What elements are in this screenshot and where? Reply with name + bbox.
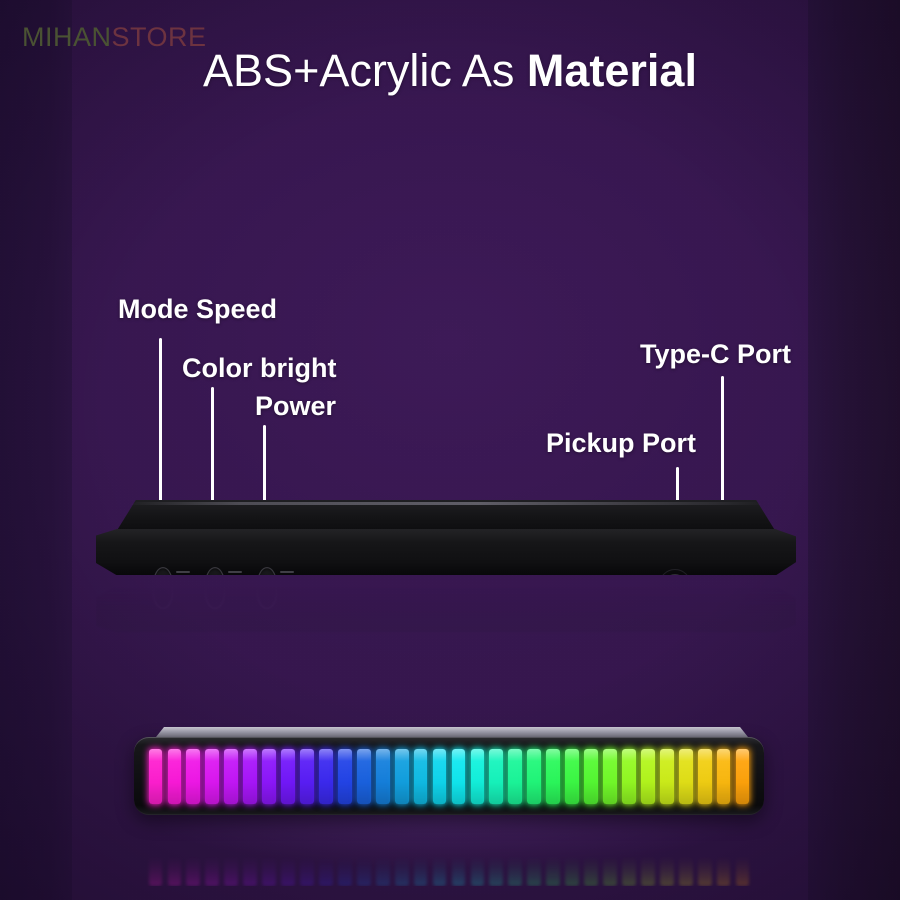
led-segment-6 [243, 749, 257, 804]
led-segment-glow [565, 749, 579, 804]
led-segment-glow [452, 749, 466, 804]
led-segment-26 [622, 749, 636, 804]
led-segment-1 [149, 749, 163, 804]
device-control-bar [96, 500, 796, 592]
led-segment-glow [300, 749, 314, 804]
led-segment-row [146, 749, 752, 804]
page-title: ABS+Acrylic As Material [0, 47, 900, 94]
led-segment-21 [527, 749, 541, 804]
led-segment-glow [149, 749, 163, 804]
led-segment-glow [338, 749, 352, 804]
callout-label-mode-speed: Mode Speed [118, 294, 277, 325]
callout-label-color-bright: Color bright [182, 353, 336, 384]
led-segment-28 [660, 749, 674, 804]
led-segment-glow [622, 749, 636, 804]
led-segment-14 [395, 749, 409, 804]
led-segment-9 [300, 749, 314, 804]
led-segment-17 [452, 749, 466, 804]
led-segment-glow [489, 749, 503, 804]
led-segment-27 [641, 749, 655, 804]
led-segment-glow [736, 749, 750, 804]
led-segment-glow [262, 749, 276, 804]
led-segment-glow [186, 749, 200, 804]
led-segment-20 [508, 749, 522, 804]
led-segment-glow [357, 749, 371, 804]
callout-label-type-c-port: Type-C Port [640, 339, 791, 370]
led-segment-2 [168, 749, 182, 804]
led-segment-glow [698, 749, 712, 804]
page-title-bold: Material [527, 45, 697, 96]
rgb-led-bar [134, 727, 764, 819]
led-segment-glow [224, 749, 238, 804]
led-segment-glow [395, 749, 409, 804]
led-segment-glow [168, 749, 182, 804]
led-segment-glow [508, 749, 522, 804]
led-segment-glow [660, 749, 674, 804]
callout-label-power: Power [255, 391, 336, 422]
led-segment-glow [527, 749, 541, 804]
led-segment-glow [376, 749, 390, 804]
led-segment-glow [641, 749, 655, 804]
led-segment-3 [186, 749, 200, 804]
led-segment-glow [433, 749, 447, 804]
led-segment-11 [338, 749, 352, 804]
led-segment-25 [603, 749, 617, 804]
led-segment-glow [281, 749, 295, 804]
led-segment-glow [717, 749, 731, 804]
led-segment-5 [224, 749, 238, 804]
led-segment-glow [414, 749, 428, 804]
led-segment-22 [546, 749, 560, 804]
led-segment-glow [584, 749, 598, 804]
device-top-gloss [124, 502, 768, 505]
led-segment-4 [205, 749, 219, 804]
led-segment-glow [603, 749, 617, 804]
led-segment-23 [565, 749, 579, 804]
led-segment-12 [357, 749, 371, 804]
led-segment-8 [281, 749, 295, 804]
led-segment-24 [584, 749, 598, 804]
led-segment-glow [471, 749, 485, 804]
led-segment-glow [679, 749, 693, 804]
pickup-mic-hole-icon [669, 579, 679, 589]
background-band-left [0, 0, 72, 900]
led-segment-glow [243, 749, 257, 804]
page-title-light: ABS+Acrylic As [203, 45, 527, 96]
product-infographic: MIHANSTORE ABS+Acrylic As Material Mode … [0, 0, 900, 900]
led-segment-18 [471, 749, 485, 804]
led-segment-29 [679, 749, 693, 804]
led-segment-glow [546, 749, 560, 804]
led-segment-19 [489, 749, 503, 804]
led-segment-glow [205, 749, 219, 804]
led-segment-30 [698, 749, 712, 804]
led-segment-glow [319, 749, 333, 804]
led-segment-31 [717, 749, 731, 804]
callout-label-pickup-port: Pickup Port [546, 428, 696, 459]
led-segment-32 [736, 749, 750, 804]
led-segment-10 [319, 749, 333, 804]
device-front-face [96, 529, 796, 575]
led-segment-15 [414, 749, 428, 804]
background-band-right [808, 0, 900, 900]
led-segment-13 [376, 749, 390, 804]
led-segment-16 [433, 749, 447, 804]
led-segment-7 [262, 749, 276, 804]
